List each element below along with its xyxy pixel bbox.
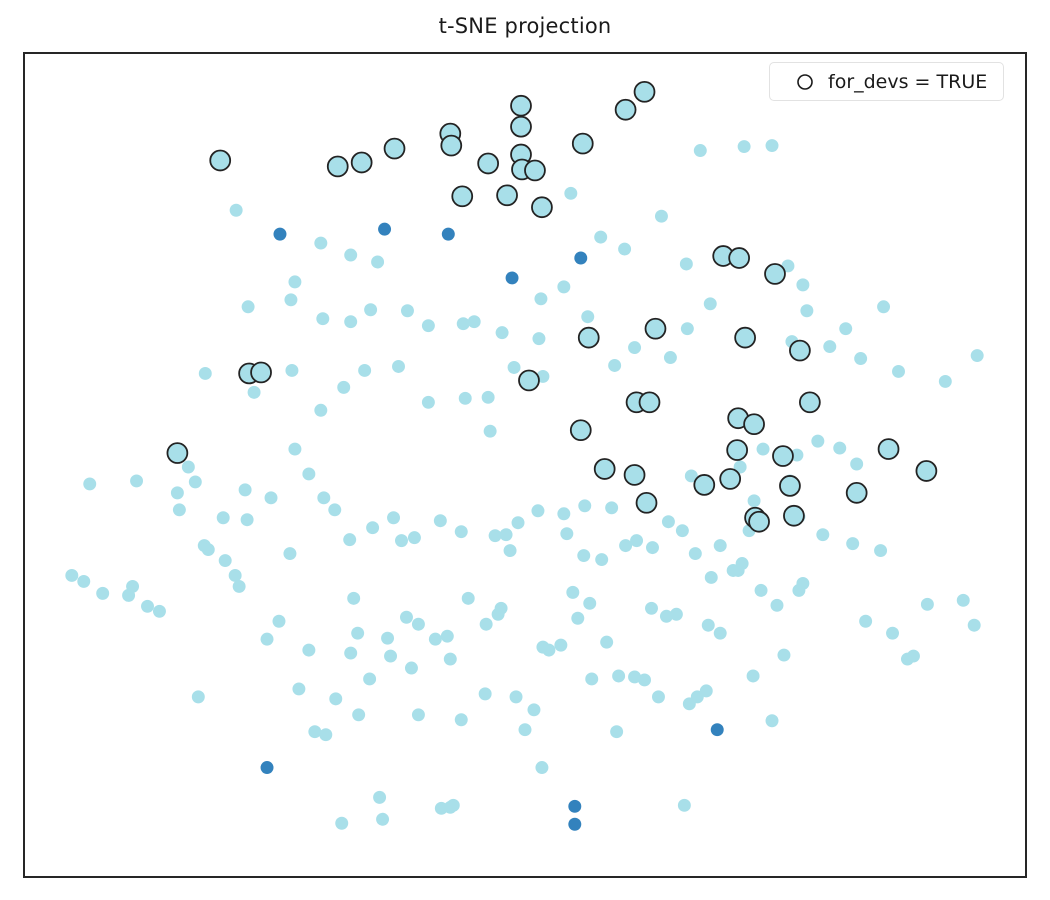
scatter-point <box>628 671 641 684</box>
scatter-point <box>122 589 135 602</box>
scatter-point <box>800 304 813 317</box>
scatter-point <box>217 511 230 524</box>
scatter-point <box>285 364 298 377</box>
scatter-point <box>506 271 519 284</box>
scatter-points-layer <box>25 54 1025 876</box>
scatter-point <box>241 513 254 526</box>
scatter-point <box>854 352 867 365</box>
scatter-point <box>261 633 274 646</box>
scatter-point <box>141 600 154 613</box>
scatter-point <box>328 503 341 516</box>
scatter-point <box>314 237 327 250</box>
scatter-point <box>616 100 636 120</box>
plot-area: for_devs = TRUE <box>23 52 1027 878</box>
scatter-point <box>610 725 623 738</box>
scatter-point <box>628 341 641 354</box>
scatter-point <box>455 713 468 726</box>
scatter-point <box>578 499 591 512</box>
scatter-point <box>366 521 379 534</box>
scatter-point <box>557 507 570 520</box>
scatter-point <box>385 139 405 159</box>
page-title: t-SNE projection <box>0 14 1050 38</box>
scatter-point <box>173 503 186 516</box>
scatter-point <box>907 650 920 663</box>
scatter-point <box>352 708 365 721</box>
scatter-point <box>429 633 442 646</box>
scatter-point <box>823 340 836 353</box>
scatter-point <box>395 534 408 547</box>
scatter-point <box>678 799 691 812</box>
scatter-point <box>288 443 301 456</box>
scatter-point <box>755 584 768 597</box>
scatter-series-0 <box>65 139 983 830</box>
scatter-point <box>796 278 809 291</box>
scatter-point <box>351 627 364 640</box>
legend-label: for_devs = TRUE <box>826 71 987 93</box>
scatter-point <box>167 443 187 463</box>
scatter-point <box>239 483 252 496</box>
scatter-point <box>479 687 492 700</box>
scatter-point <box>373 791 386 804</box>
scatter-point <box>738 140 751 153</box>
scatter-point <box>780 476 800 496</box>
scatter-point <box>337 381 350 394</box>
scatter-point <box>670 608 683 621</box>
scatter-point <box>560 527 573 540</box>
scatter-point <box>534 292 547 305</box>
tsne-scatter-figure: t-SNE projection for_devs = TRUE <box>0 0 1050 900</box>
scatter-point <box>335 817 348 830</box>
scatter-point <box>846 537 859 550</box>
scatter-point <box>727 440 747 460</box>
scatter-point <box>968 619 981 632</box>
scatter-point <box>444 653 457 666</box>
scatter-point <box>288 275 301 288</box>
scatter-point <box>568 818 581 831</box>
scatter-point <box>874 544 887 557</box>
scatter-point <box>408 531 421 544</box>
scatter-point <box>130 474 143 487</box>
scatter-point <box>625 465 645 485</box>
scatter-point <box>364 303 377 316</box>
scatter-point <box>833 442 846 455</box>
scatter-point <box>694 475 714 495</box>
scatter-point <box>459 392 472 405</box>
scatter-point <box>581 310 594 323</box>
scatter-point <box>744 414 764 434</box>
scatter-point <box>248 386 261 399</box>
scatter-point <box>510 690 523 703</box>
scatter-point <box>694 144 707 157</box>
scatter-point <box>508 361 521 374</box>
scatter-point <box>182 461 195 474</box>
scatter-point <box>378 223 391 236</box>
scatter-point <box>662 515 675 528</box>
scatter-point <box>387 511 400 524</box>
scatter-point <box>347 592 360 605</box>
scatter-point <box>219 554 232 567</box>
scatter-point <box>579 328 599 348</box>
scatter-point <box>511 96 531 116</box>
scatter-point <box>504 544 517 557</box>
legend[interactable]: for_devs = TRUE <box>769 62 1004 101</box>
scatter-point <box>344 315 357 328</box>
scatter-point <box>401 304 414 317</box>
scatter-point <box>532 197 552 217</box>
scatter-point <box>765 264 785 284</box>
scatter-point <box>283 547 296 560</box>
scatter-point <box>77 575 90 588</box>
scatter-point <box>635 82 655 102</box>
scatter-point <box>525 160 545 180</box>
scatter-point <box>892 365 905 378</box>
scatter-point <box>732 564 745 577</box>
scatter-point <box>971 349 984 362</box>
scatter-point <box>664 351 677 364</box>
scatter-point <box>442 228 455 241</box>
scatter-point <box>210 151 230 171</box>
scatter-point <box>689 547 702 560</box>
scatter-point <box>796 577 809 590</box>
scatter-point <box>171 486 184 499</box>
scatter-series-2 <box>167 82 936 532</box>
scatter-point <box>577 549 590 562</box>
scatter-point <box>447 799 460 812</box>
scatter-point <box>957 594 970 607</box>
scatter-point <box>96 587 109 600</box>
scatter-point <box>519 370 539 390</box>
scatter-point <box>344 249 357 262</box>
scatter-point <box>308 725 321 738</box>
scatter-point <box>242 300 255 313</box>
scatter-point <box>700 684 713 697</box>
scatter-point <box>847 483 867 503</box>
scatter-point <box>189 475 202 488</box>
scatter-point <box>344 647 357 660</box>
scatter-point <box>816 528 829 541</box>
scatter-point <box>274 228 287 241</box>
scatter-point <box>273 615 286 628</box>
scatter-point <box>850 458 863 471</box>
scatter-point <box>564 187 577 200</box>
legend-marker-icon <box>784 72 826 92</box>
scatter-point <box>568 800 581 813</box>
scatter-point <box>921 598 934 611</box>
scatter-point <box>265 491 278 504</box>
scatter-point <box>457 317 470 330</box>
scatter-point <box>735 328 755 348</box>
scatter-point <box>811 435 824 448</box>
scatter-point <box>729 248 749 268</box>
scatter-point <box>328 157 348 177</box>
scatter-point <box>585 672 598 685</box>
scatter-point <box>595 553 608 566</box>
scatter-point <box>496 326 509 339</box>
scatter-point <box>571 612 584 625</box>
scatter-point <box>292 682 305 695</box>
scatter-point <box>314 404 327 417</box>
scatter-point <box>877 300 890 313</box>
scatter-point <box>573 134 593 154</box>
scatter-point <box>595 459 615 479</box>
scatter-point <box>65 569 78 582</box>
scatter-point <box>702 619 715 632</box>
scatter-point <box>790 341 810 361</box>
scatter-point <box>478 154 498 174</box>
scatter-point <box>705 571 718 584</box>
scatter-point <box>557 280 570 293</box>
scatter-point <box>646 319 666 339</box>
scatter-point <box>532 332 545 345</box>
scatter-point <box>192 690 205 703</box>
scatter-point <box>583 597 596 610</box>
scatter-point <box>302 644 315 657</box>
scatter-point <box>784 506 804 526</box>
scatter-point <box>482 391 495 404</box>
scatter-point <box>886 627 899 640</box>
scatter-point <box>681 322 694 335</box>
scatter-point <box>839 322 852 335</box>
scatter-point <box>879 439 899 459</box>
scatter-point <box>652 690 665 703</box>
scatter-point <box>771 599 784 612</box>
scatter-point <box>637 493 657 513</box>
scatter-point <box>566 586 579 599</box>
scatter-point <box>554 639 567 652</box>
scatter-point <box>600 636 613 649</box>
scatter-point <box>199 367 212 380</box>
scatter-point <box>363 672 376 685</box>
scatter-point <box>400 611 413 624</box>
scatter-point <box>384 650 397 663</box>
scatter-point <box>455 525 468 538</box>
scatter-point <box>747 670 760 683</box>
scatter-point <box>468 315 481 328</box>
scatter-point <box>392 360 405 373</box>
scatter-point <box>484 425 497 438</box>
scatter-point <box>202 543 215 556</box>
scatter-point <box>83 477 96 490</box>
scatter-point <box>319 728 332 741</box>
scatter-point <box>608 359 621 372</box>
scatter-point <box>612 670 625 683</box>
scatter-point <box>766 139 779 152</box>
scatter-point <box>422 396 435 409</box>
scatter-point <box>441 630 454 643</box>
scatter-point <box>480 618 493 631</box>
scatter-point <box>680 258 693 271</box>
scatter-point <box>316 312 329 325</box>
scatter-point <box>800 392 820 412</box>
scatter-point <box>405 662 418 675</box>
scatter-point <box>646 541 659 554</box>
scatter-point <box>153 605 166 618</box>
scatter-point <box>720 469 740 489</box>
scatter-point <box>497 185 517 205</box>
scatter-point <box>412 618 425 631</box>
scatter-point <box>714 627 727 640</box>
scatter-point <box>462 592 475 605</box>
scatter-point <box>261 761 274 774</box>
scatter-point <box>352 153 372 173</box>
scatter-point <box>777 649 790 662</box>
scatter-point <box>317 491 330 504</box>
scatter-point <box>655 210 668 223</box>
scatter-point <box>714 539 727 552</box>
scatter-point <box>574 252 587 265</box>
scatter-point <box>302 467 315 480</box>
scatter-point <box>495 602 508 615</box>
scatter-point <box>531 504 544 517</box>
scatter-point <box>358 364 371 377</box>
scatter-point <box>676 524 689 537</box>
scatter-point <box>512 516 525 529</box>
scatter-point <box>640 392 660 412</box>
scatter-point <box>371 256 384 269</box>
scatter-point <box>605 501 618 514</box>
scatter-point <box>343 533 356 546</box>
scatter-point <box>749 512 769 532</box>
scatter-point <box>519 723 532 736</box>
scatter-point <box>859 615 872 628</box>
scatter-point <box>441 136 461 156</box>
scatter-point <box>630 534 643 547</box>
scatter-point <box>511 117 531 137</box>
scatter-point <box>251 362 271 382</box>
scatter-point <box>527 703 540 716</box>
scatter-point <box>284 293 297 306</box>
scatter-point <box>381 632 394 645</box>
scatter-point <box>535 761 548 774</box>
scatter-point <box>376 813 389 826</box>
scatter-point <box>329 692 342 705</box>
scatter-point <box>571 420 591 440</box>
scatter-point <box>773 446 793 466</box>
scatter-point <box>645 602 658 615</box>
scatter-point <box>618 243 631 256</box>
scatter-point <box>916 461 936 481</box>
scatter-point <box>412 708 425 721</box>
scatter-point <box>500 528 513 541</box>
scatter-point <box>452 186 472 206</box>
scatter-point <box>704 297 717 310</box>
scatter-point <box>757 443 770 456</box>
scatter-point <box>422 319 435 332</box>
scatter-point <box>748 494 761 507</box>
scatter-point <box>542 644 555 657</box>
scatter-point <box>230 204 243 217</box>
scatter-point <box>489 529 502 542</box>
scatter-point <box>434 514 447 527</box>
scatter-point <box>939 375 952 388</box>
scatter-point <box>711 723 724 736</box>
scatter-point <box>233 580 246 593</box>
scatter-point <box>594 231 607 244</box>
scatter-point <box>766 714 779 727</box>
